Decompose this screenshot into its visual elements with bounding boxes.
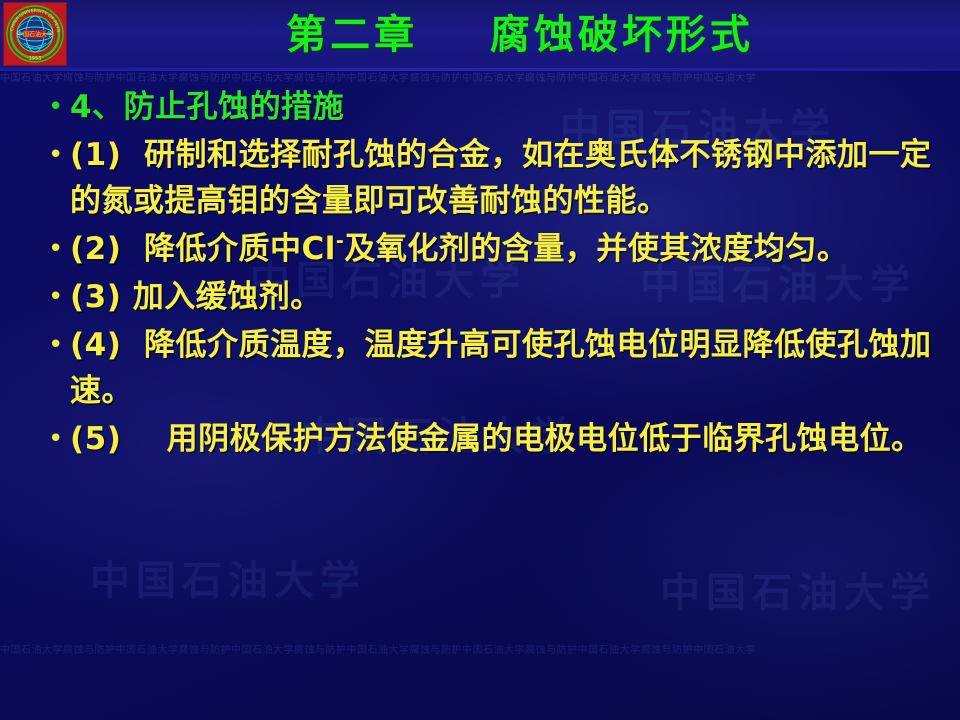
bullet-icon: • [44, 416, 70, 462]
list-item: • 4、防止孔蚀的措施 [44, 84, 942, 130]
bullet-icon: • [44, 274, 70, 320]
list-item: • (3) 加入缓蚀剂。 [44, 274, 942, 320]
list-item-text: (2) 降低介质中Cl-及氧化剂的含量，并使其浓度均匀。 [70, 226, 942, 272]
slide-footer: 上页 下页 返回 回主目录 2020/6/30 70 [0, 664, 960, 720]
list-item-text: (1) 研制和选择耐孔蚀的合金，如在奥氏体不锈钢中添加一定的氮或提高钼的含量即可… [70, 132, 942, 224]
list-item: • (1) 研制和选择耐孔蚀的合金，如在奥氏体不锈钢中添加一定的氮或提高钼的含量… [44, 132, 942, 224]
header-divider [0, 68, 960, 71]
page-title: 第二章 腐蚀破坏形式 [120, 6, 920, 64]
list-item-text: (5) 用阴极保护方法使金属的电极电位低于临界孔蚀电位。 [70, 416, 942, 462]
slide-canvas: 中国石油大学 中国石油大学 中国石油大学 中国石油大学 中国石油大学 中国石油大… [0, 0, 960, 720]
list-item-text: 4、防止孔蚀的措施 [70, 84, 942, 130]
list-item-text: (3) 加入缓蚀剂。 [70, 274, 942, 320]
list-item: • (4) 降低介质温度，温度升高可使孔蚀电位明显降低使孔蚀加速。 [44, 322, 942, 414]
bullet-icon: • [44, 84, 70, 130]
list-item: • (5) 用阴极保护方法使金属的电极电位低于临界孔蚀电位。 [44, 416, 942, 462]
bullet-icon: • [44, 132, 70, 178]
bullet-icon: • [44, 226, 70, 272]
slide-header: 中国石油大学 1953 CHINA UNIVERSITY OF PETROLEU… [0, 0, 960, 70]
university-logo: 中国石油大学 1953 CHINA UNIVERSITY OF PETROLEU… [3, 2, 67, 66]
slide-content: • 4、防止孔蚀的措施 • (1) 研制和选择耐孔蚀的合金，如在奥氏体不锈钢中添… [0, 76, 960, 632]
svg-text:1953: 1953 [29, 56, 42, 62]
list-item: • (2) 降低介质中Cl-及氧化剂的含量，并使其浓度均匀。 [44, 226, 942, 272]
watermark-text-strip-bottom: 中国石油大学腐蚀与防护中国石油大学腐蚀与防护中国石油大学腐蚀与防护中国石油大学腐… [0, 641, 960, 656]
list-item-text: (4) 降低介质温度，温度升高可使孔蚀电位明显降低使孔蚀加速。 [70, 322, 942, 414]
svg-text:中国石油大学: 中国石油大学 [17, 31, 53, 39]
bullet-icon: • [44, 322, 70, 368]
